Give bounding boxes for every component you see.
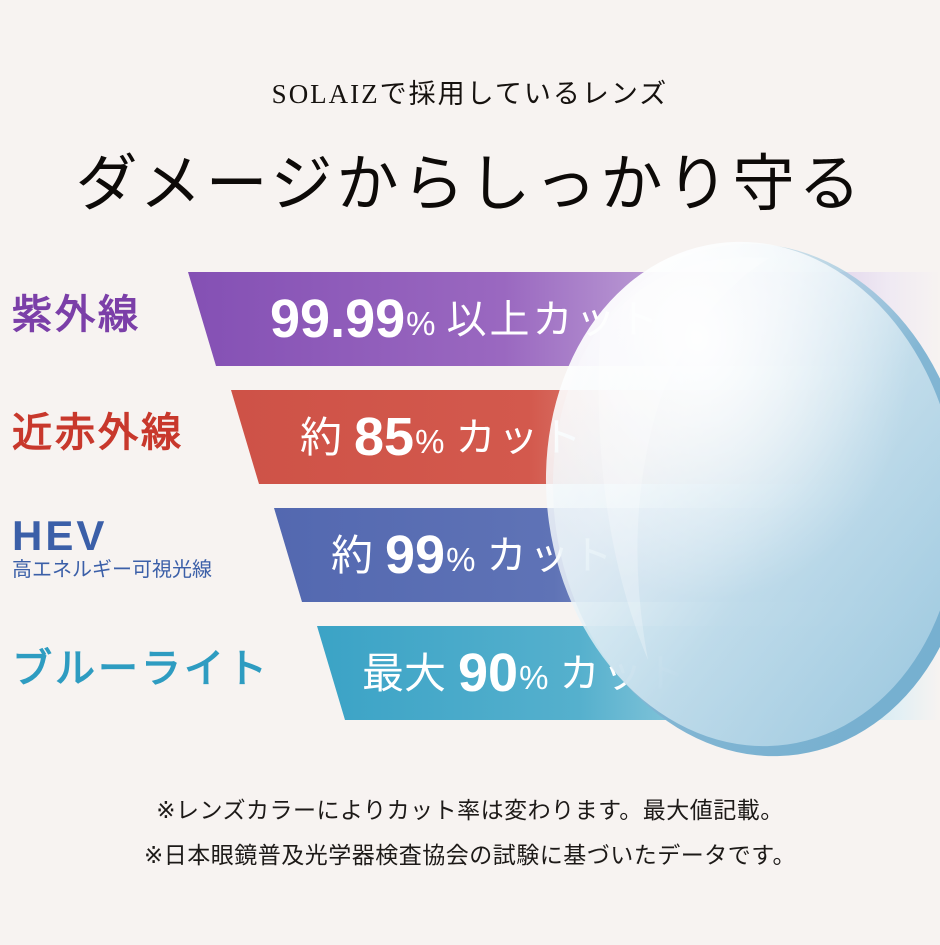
- category-label-blue-light-main: ブルーライト: [12, 648, 270, 690]
- category-label-blue-light: ブルーライト: [12, 648, 270, 690]
- bar-suffix-uv: 以上カット: [446, 300, 661, 340]
- bar-value-hev: 約 99 % カット: [331, 508, 615, 602]
- category-label-hev-main: HEV: [12, 515, 212, 557]
- category-label-nir-main: 近赤外線: [12, 412, 184, 454]
- bar-suffix-blue-light: カット: [559, 654, 688, 694]
- bar-value-blue-light: 最大 90 % カット: [362, 626, 688, 720]
- category-label-uv-main: 紫外線: [12, 294, 141, 336]
- bar-suffix-nir: カット: [455, 418, 584, 458]
- category-label-hev-sub: 高エネルギー可視光線: [12, 559, 212, 582]
- category-label-uv: 紫外線: [12, 294, 141, 336]
- category-label-hev: HEV 高エネルギー可視光線: [12, 515, 212, 582]
- bar-number-nir: 85: [354, 410, 414, 464]
- footnote-1: ※レンズカラーによりカット率は変わります。最大値記載。: [0, 788, 940, 833]
- footnote-2: ※日本眼鏡普及光学器検査協会の試験に基づいたデータです。: [0, 833, 940, 878]
- bar-percent-uv: %: [406, 307, 435, 340]
- eyebrow-text: SOLAIZで採用しているレンズ: [0, 72, 940, 111]
- bar-number-hev: 99: [385, 528, 445, 582]
- bar-value-nir: 約 85 % カット: [300, 390, 584, 484]
- bar-suffix-hev: カット: [486, 536, 615, 576]
- infographic-canvas: SOLAIZで採用しているレンズ ダメージからしっかり守る: [0, 0, 940, 940]
- bar-number-blue-light: 90: [458, 646, 518, 700]
- page-title: ダメージからしっかり守る: [0, 133, 940, 223]
- bar-number-uv: 99.99: [270, 292, 405, 346]
- bar-prefix-blue-light: 最大: [362, 653, 446, 695]
- bar-percent-hev: %: [446, 543, 475, 576]
- bar-percent-nir: %: [415, 425, 444, 458]
- chart-row-uv: 99.99 % 以上カット: [0, 272, 940, 366]
- bar-value-uv: 99.99 % 以上カット: [270, 272, 661, 366]
- bar-prefix-hev: 約: [331, 535, 373, 577]
- footnotes: ※レンズカラーによりカット率は変わります。最大値記載。 ※日本眼鏡普及光学器検査…: [0, 788, 940, 878]
- bar-percent-blue-light: %: [519, 661, 548, 694]
- bar-prefix-nir: 約: [300, 417, 342, 459]
- category-label-nir: 近赤外線: [12, 412, 184, 454]
